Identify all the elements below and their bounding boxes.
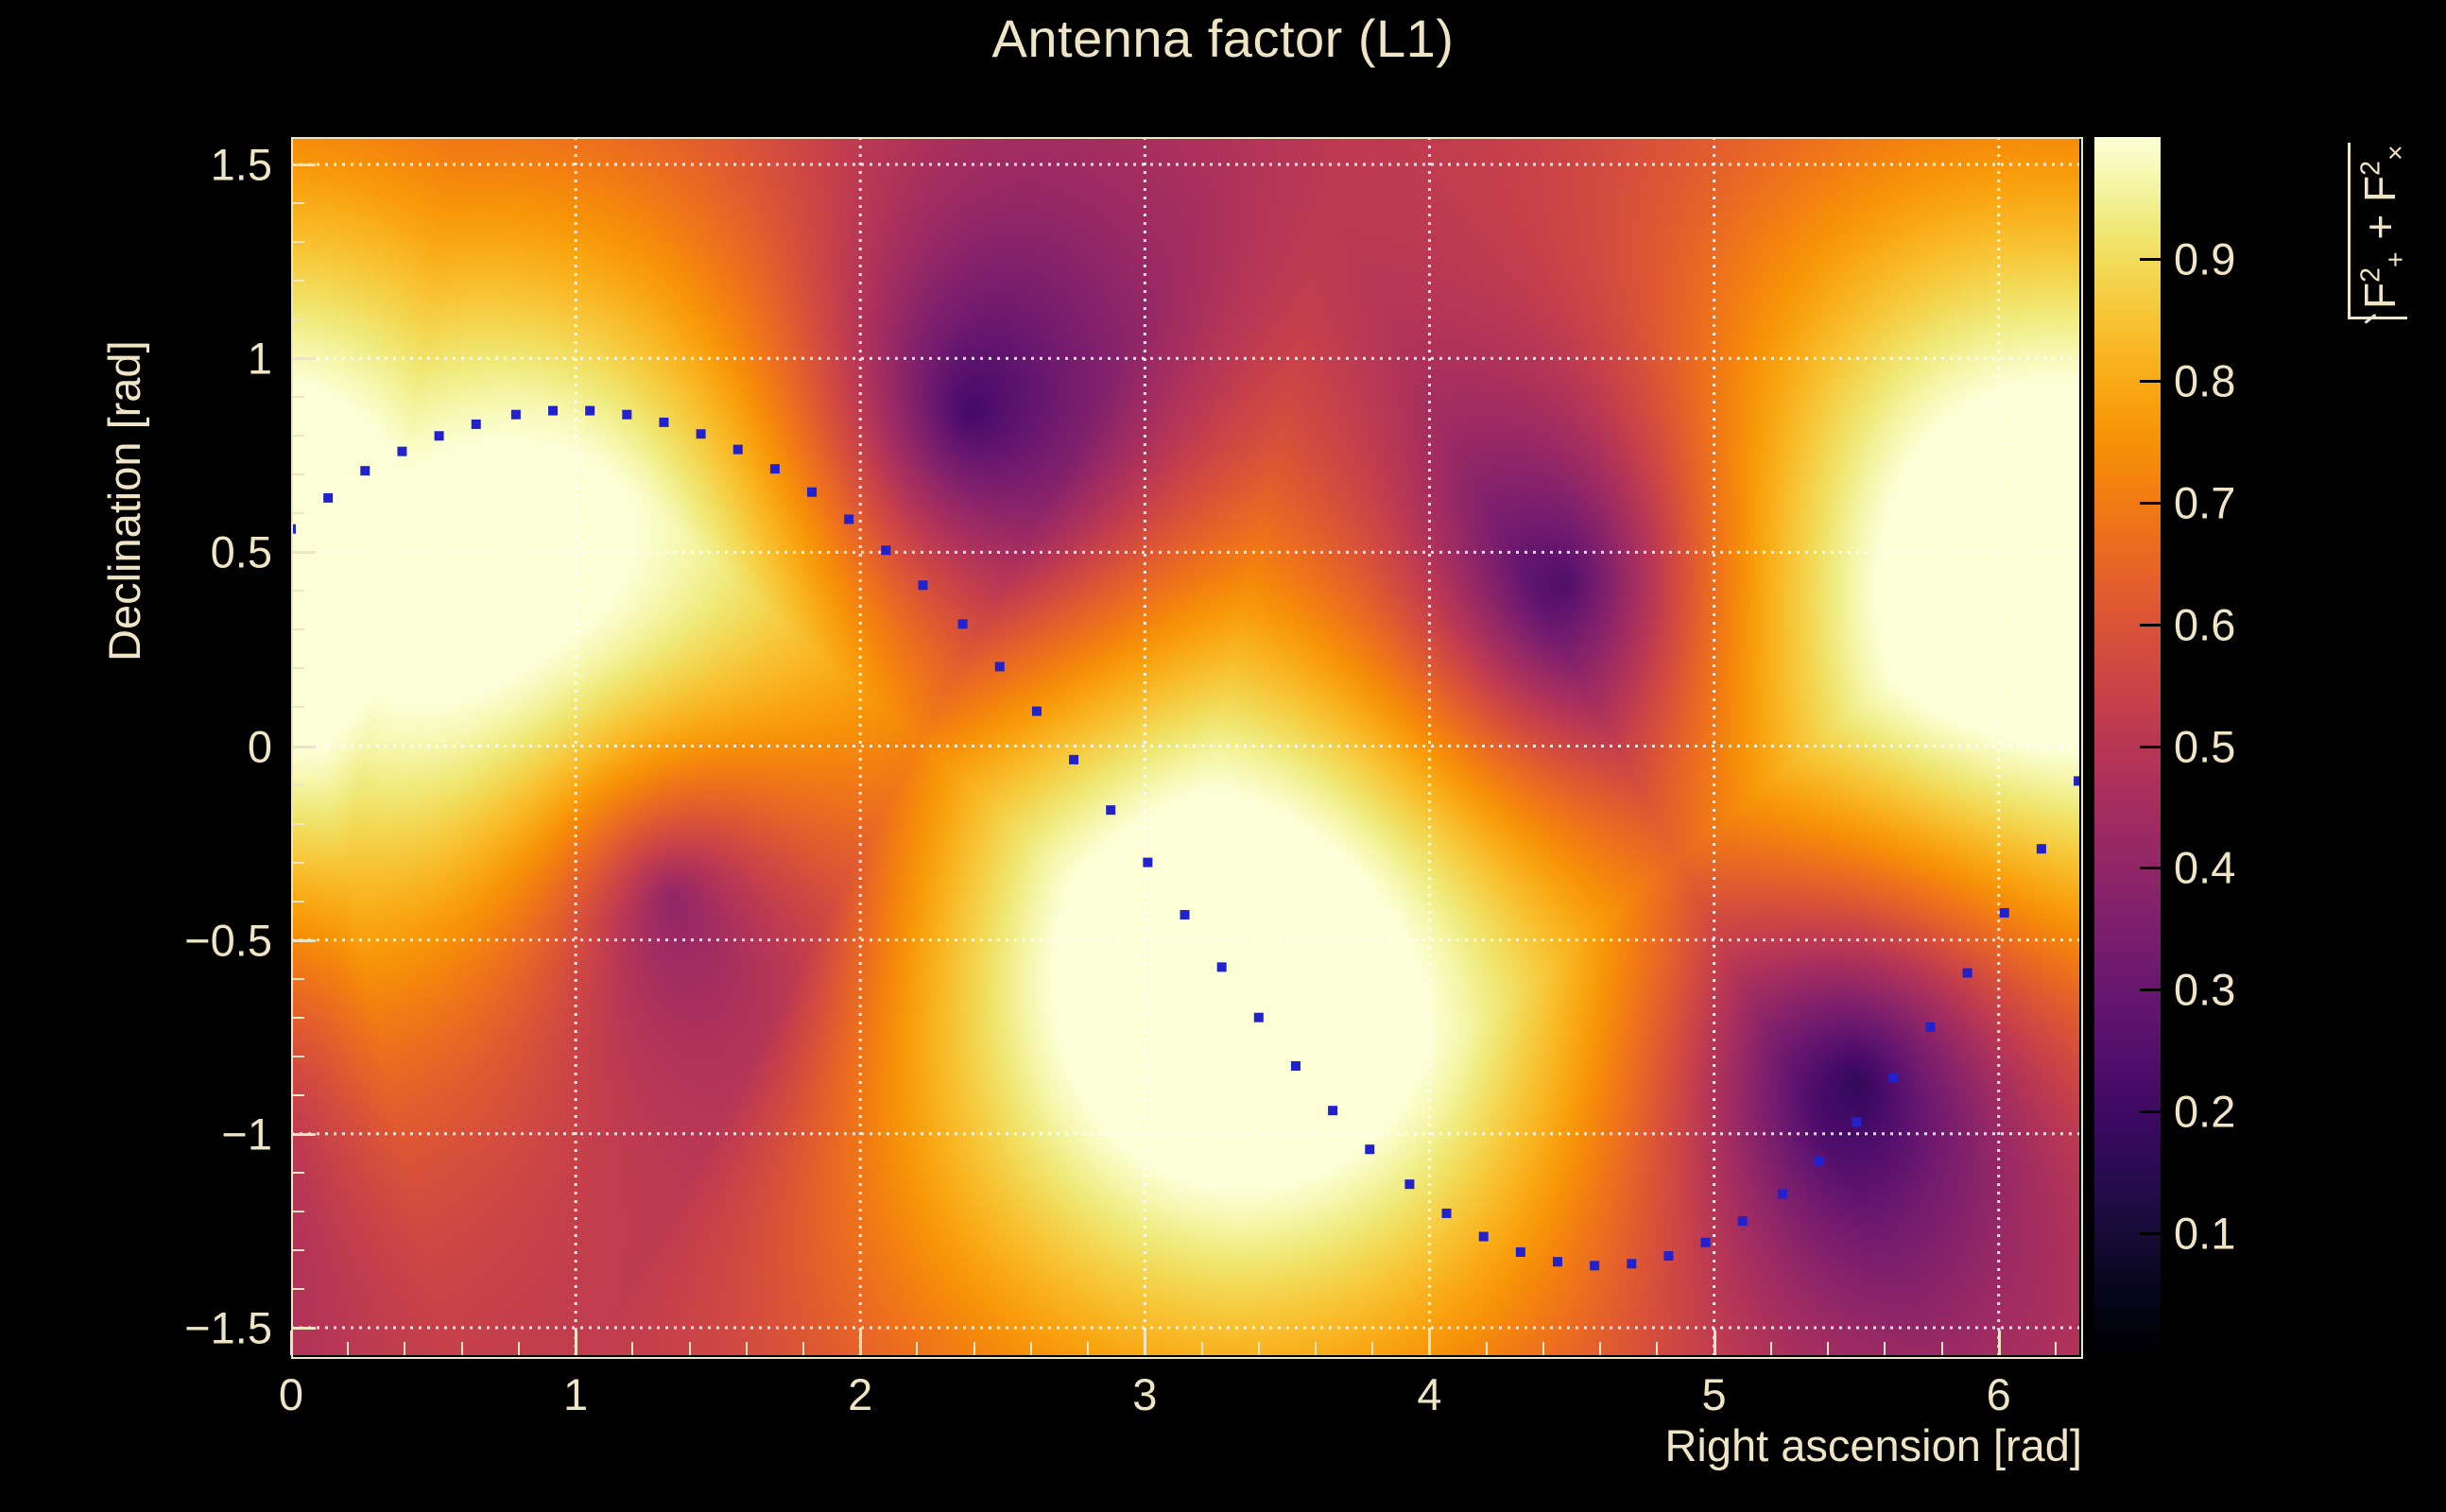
x-minor-tick [1542, 1342, 1544, 1355]
y-minor-tick [291, 667, 304, 669]
y-minor-tick [291, 318, 304, 320]
y-tick-mark [291, 163, 316, 166]
f-plus-term: F2+ [2355, 251, 2404, 309]
y-minor-tick [291, 628, 304, 630]
colorbar-tick-label: 0.5 [2174, 720, 2235, 772]
x-tick-label: 3 [1132, 1368, 1157, 1420]
x-minor-tick [1656, 1342, 1658, 1355]
colorbar-tick-label: 0.6 [2174, 598, 2235, 650]
x-minor-tick [973, 1342, 975, 1355]
colorbar-tick-label: 0.4 [2174, 842, 2235, 894]
colorbar-tick-mark [2140, 380, 2161, 383]
y-minor-tick [291, 1172, 304, 1174]
heatmap-plot-area[interactable] [291, 137, 2079, 1355]
y-tick-label: 1.5 [112, 139, 272, 191]
colorbar-tick-mark [2140, 988, 2161, 991]
x-minor-tick [404, 1342, 405, 1355]
x-tick-mark [290, 1331, 293, 1355]
y-tick-mark [291, 357, 316, 360]
x-minor-tick [1770, 1342, 1772, 1355]
y-minor-tick [291, 1288, 304, 1290]
x-tick-label: 5 [1702, 1368, 1727, 1420]
x-tick-label: 4 [1417, 1368, 1441, 1420]
y-minor-tick [291, 978, 304, 980]
x-minor-tick [1201, 1342, 1203, 1355]
x-tick-label: 0 [279, 1368, 303, 1420]
colorbar-tick-mark [2140, 624, 2161, 627]
x-minor-tick [1827, 1342, 1829, 1355]
x-minor-tick [1371, 1342, 1373, 1355]
x-tick-mark [1428, 1331, 1431, 1355]
x-axis-label: Right ascension [rad] [1664, 1419, 2082, 1471]
y-minor-tick [291, 823, 304, 825]
x-minor-tick [1884, 1342, 1886, 1355]
y-minor-tick [291, 1249, 304, 1251]
x-tick-mark [1714, 1331, 1716, 1355]
colorbar-tick-mark [2140, 1232, 2161, 1235]
x-minor-tick [1087, 1342, 1089, 1355]
y-tick-label: 0 [112, 720, 272, 772]
x-tick-mark [1998, 1331, 2001, 1355]
x-minor-tick [631, 1342, 633, 1355]
x-tick-mark [859, 1331, 862, 1355]
y-tick-mark [291, 746, 316, 748]
y-minor-tick [291, 202, 304, 204]
x-minor-tick [1258, 1342, 1260, 1355]
colorbar-axis-title: F2+ + F2× [2334, 94, 2446, 340]
colorbar-tick-mark [2140, 502, 2161, 505]
colorbar-title-formula: F2+ + F2× [2348, 143, 2407, 321]
y-tick-mark [291, 939, 316, 942]
y-minor-tick [291, 512, 304, 514]
colorbar-tick-label: 0.2 [2174, 1086, 2235, 1138]
x-tick-mark [1144, 1331, 1146, 1355]
y-axis-label: Declination [rad] [98, 340, 150, 661]
heatmap-image [291, 137, 2079, 1355]
y-tick-mark [291, 1327, 316, 1330]
y-tick-label: −1 [112, 1108, 272, 1160]
y-tick-mark [291, 1133, 316, 1136]
x-minor-tick [1030, 1342, 1032, 1355]
y-minor-tick [291, 1094, 304, 1096]
y-minor-tick [291, 706, 304, 708]
x-minor-tick [746, 1342, 748, 1355]
f-cross-term: F2× [2355, 145, 2404, 202]
y-tick-label: −0.5 [112, 914, 272, 966]
plot-canvas: Antenna factor (L1) 1.510.50−0.5−1−1.501… [0, 0, 2446, 1512]
x-minor-tick [1315, 1342, 1317, 1355]
y-minor-tick [291, 396, 304, 398]
colorbar-tick-label: 0.7 [2174, 476, 2235, 528]
y-minor-tick [291, 784, 304, 786]
colorbar-tick-label: 0.1 [2174, 1208, 2235, 1260]
x-minor-tick [1941, 1342, 1943, 1355]
colorbar-tick-label: 0.9 [2174, 232, 2235, 284]
x-minor-tick [1486, 1342, 1488, 1355]
plus-operator: + [2355, 215, 2404, 240]
colorbar-tick-mark [2140, 1110, 2161, 1113]
x-tick-label: 1 [563, 1368, 588, 1420]
x-minor-tick [689, 1342, 691, 1355]
page-title: Antenna factor (L1) [0, 8, 2446, 69]
y-minor-tick [291, 1056, 304, 1057]
x-minor-tick [802, 1342, 804, 1355]
y-minor-tick [291, 241, 304, 243]
colorbar-tick-mark [2140, 746, 2161, 748]
x-tick-label: 2 [848, 1368, 872, 1420]
x-minor-tick [461, 1342, 463, 1355]
y-tick-label: −1.5 [112, 1301, 272, 1353]
colorbar-tick-mark [2140, 258, 2161, 261]
x-minor-tick [916, 1342, 918, 1355]
x-tick-mark [575, 1331, 577, 1355]
x-minor-tick [347, 1342, 349, 1355]
y-minor-tick [291, 473, 304, 475]
y-minor-tick [291, 1017, 304, 1019]
y-minor-tick [291, 901, 304, 902]
colorbar-tick-mark [2140, 867, 2161, 869]
sqrt-radical: F2+ + F2× [2348, 143, 2407, 319]
y-minor-tick [291, 590, 304, 592]
colorbar-tick-label: 0.8 [2174, 354, 2235, 406]
y-minor-tick [291, 280, 304, 282]
x-minor-tick [2055, 1342, 2057, 1355]
x-tick-label: 6 [1987, 1368, 2011, 1420]
x-minor-tick [1599, 1342, 1601, 1355]
y-minor-tick [291, 862, 304, 864]
y-minor-tick [291, 1211, 304, 1212]
y-tick-mark [291, 551, 316, 554]
colorbar-tick-label: 0.3 [2174, 964, 2235, 1016]
y-minor-tick [291, 435, 304, 437]
x-minor-tick [518, 1342, 520, 1355]
